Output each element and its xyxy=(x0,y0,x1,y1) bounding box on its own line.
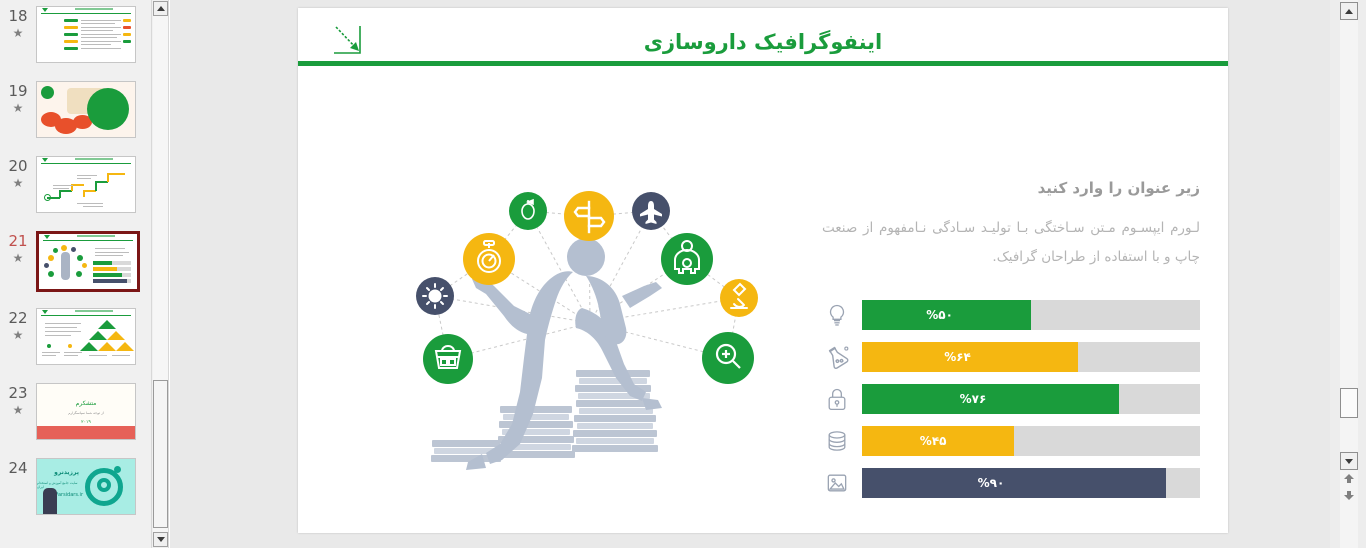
scrollbar-thumb[interactable] xyxy=(1340,388,1358,418)
slide-number: 21 xyxy=(8,233,27,250)
chart-row-image: %۹۰ xyxy=(820,466,1200,500)
thumbnail-meta: 24 xyxy=(0,458,36,478)
chevron-up-icon xyxy=(157,6,165,11)
thumbnail-scroll-down-button[interactable] xyxy=(153,532,168,547)
animation-star-icon: ★ xyxy=(13,251,24,265)
mini-slide-photo xyxy=(37,82,135,137)
thumbnail-image[interactable] xyxy=(36,81,136,138)
mini-slide-pyramid xyxy=(37,309,135,364)
thumbnail-meta: 19 ★ xyxy=(0,81,36,115)
chevron-down-icon xyxy=(157,537,165,542)
lock-icon xyxy=(820,382,854,416)
lightbulb-icon xyxy=(820,298,854,332)
bar-track: %۵۰ xyxy=(862,300,1200,330)
thumbnail-meta: 20 ★ xyxy=(0,156,36,190)
mini-slide-process xyxy=(37,7,135,62)
node-piggy-bank xyxy=(661,233,713,285)
infographic-illustration xyxy=(390,148,790,508)
slide-editing-stage[interactable]: اینفوگرافیک داروسازی xyxy=(170,0,1330,548)
chevron-down-icon xyxy=(1345,459,1353,464)
node-drink-glass xyxy=(423,334,473,384)
slide-thumbnail-23[interactable]: 23 ★ متشکرم از توجه شما سپاسگزارم ۲۰۱۹ xyxy=(0,383,152,440)
slide-thumbnail-22[interactable]: 22 ★ xyxy=(0,308,152,365)
mini-logo-title: پرزیدنرو xyxy=(54,469,79,476)
mini-slide-current xyxy=(39,234,137,289)
mini-slide-steps xyxy=(37,157,135,212)
thumbnail-image[interactable] xyxy=(36,308,136,365)
image-icon xyxy=(820,466,854,500)
text-block: زیر عنوان را وارد کنید لـورم ایپسـوم مـت… xyxy=(822,176,1200,272)
animation-star-icon: ★ xyxy=(13,26,24,40)
mini-thanks-year: ۲۰۱۹ xyxy=(37,420,135,425)
thumbnail-image[interactable] xyxy=(36,231,140,292)
scrollbar-thumb[interactable] xyxy=(153,380,168,528)
thumbnail-pane-scrollbar[interactable] xyxy=(152,0,169,548)
node-sun xyxy=(416,277,454,315)
bar-value-label: %۵۰ xyxy=(926,300,953,330)
current-slide[interactable]: اینفوگرافیک داروسازی xyxy=(298,8,1228,533)
chart-row-database: %۴۵ xyxy=(820,424,1200,458)
bar-fill xyxy=(862,384,1119,414)
subtitle-heading: زیر عنوان را وارد کنید xyxy=(822,176,1200,200)
node-zoom-in xyxy=(702,332,754,384)
slide-thumbnail-20[interactable]: 20 ★ xyxy=(0,156,152,213)
node-signpost xyxy=(564,191,614,241)
slide-number: 24 xyxy=(8,460,27,477)
animation-star-icon: ★ xyxy=(13,328,24,342)
powerpoint-window: 18 ★ xyxy=(0,0,1366,548)
database-icon xyxy=(820,424,854,458)
body-paragraph: لـورم ایپسـوم مـتن سـاختگی بـا تولیـد سـ… xyxy=(822,214,1200,272)
thumbnail-meta: 23 ★ xyxy=(0,383,36,417)
chart-row-lock: %۷۶ xyxy=(820,382,1200,416)
node-airplane xyxy=(632,192,670,230)
scroll-down-button[interactable] xyxy=(1340,452,1358,470)
scroll-up-button[interactable] xyxy=(1340,2,1358,20)
animation-star-icon: ★ xyxy=(13,403,24,417)
bar-value-label: %۷۶ xyxy=(960,384,987,414)
mini-slide-thanks: متشکرم از توجه شما سپاسگزارم ۲۰۱۹ xyxy=(37,384,135,439)
document-scrollbar[interactable] xyxy=(1330,0,1366,548)
flask-icon xyxy=(820,340,854,374)
bar-value-label: %۹۰ xyxy=(978,468,1005,498)
slide-number: 22 xyxy=(8,310,27,327)
next-slide-button[interactable] xyxy=(1343,490,1355,500)
node-microscope xyxy=(720,279,758,317)
mini-logo-url: Parsidars.ir xyxy=(55,492,83,498)
thumbnail-image[interactable]: متشکرم از توجه شما سپاسگزارم ۲۰۱۹ xyxy=(36,383,136,440)
animation-star-icon: ★ xyxy=(13,176,24,190)
thumbnail-meta: 21 ★ xyxy=(0,231,36,265)
slide-thumbnail-18[interactable]: 18 ★ xyxy=(0,6,152,63)
progress-bar-chart: %۵۰ xyxy=(820,298,1200,508)
bar-track: %۴۵ xyxy=(862,426,1200,456)
title-divider xyxy=(298,61,1228,66)
chart-row-flask: %۶۴ xyxy=(820,340,1200,374)
bar-track: %۶۴ xyxy=(862,342,1200,372)
chevron-up-icon xyxy=(1345,9,1353,14)
thumbnail-meta: 22 ★ xyxy=(0,308,36,342)
thumbnail-scroll-up-button[interactable] xyxy=(153,1,168,16)
node-stopwatch xyxy=(463,233,515,285)
slide-number: 19 xyxy=(8,83,27,100)
mini-thanks-subtitle: از توجه شما سپاسگزارم xyxy=(37,411,135,415)
thumbnail-image[interactable] xyxy=(36,156,136,213)
mini-thanks-title: متشکرم xyxy=(37,400,135,407)
mini-logo-subtitle: سایت جامع آموزش و استخدام ایران xyxy=(37,481,85,489)
bar-track: %۷۶ xyxy=(862,384,1200,414)
node-apple xyxy=(509,192,547,230)
slide-number: 20 xyxy=(8,158,27,175)
previous-slide-button[interactable] xyxy=(1343,474,1355,484)
mini-slide-logo: پرزیدنرو سایت جامع آموزش و استخدام ایران… xyxy=(37,459,135,514)
thumbnail-image[interactable] xyxy=(36,6,136,63)
bar-value-label: %۶۴ xyxy=(944,342,971,372)
bar-value-label: %۴۵ xyxy=(920,426,947,456)
bar-fill xyxy=(862,468,1166,498)
slide-thumbnail-21[interactable]: 21 ★ xyxy=(0,231,152,292)
slide-thumbnail-19[interactable]: 19 ★ xyxy=(0,81,152,138)
bar-track: %۹۰ xyxy=(862,468,1200,498)
slide-number: 18 xyxy=(8,8,27,25)
slide-number: 23 xyxy=(8,385,27,402)
page-title: اینفوگرافیک داروسازی xyxy=(298,30,1228,54)
slide-thumbnail-24[interactable]: 24 پرزیدنرو سایت جامع آموزش و استخدام ای… xyxy=(0,458,152,515)
animation-star-icon: ★ xyxy=(13,101,24,115)
slide-thumbnail-pane[interactable]: 18 ★ xyxy=(0,0,152,548)
thumbnail-meta: 18 ★ xyxy=(0,6,36,40)
chart-row-lightbulb: %۵۰ xyxy=(820,298,1200,332)
thumbnail-image[interactable]: پرزیدنرو سایت جامع آموزش و استخدام ایران… xyxy=(36,458,136,515)
